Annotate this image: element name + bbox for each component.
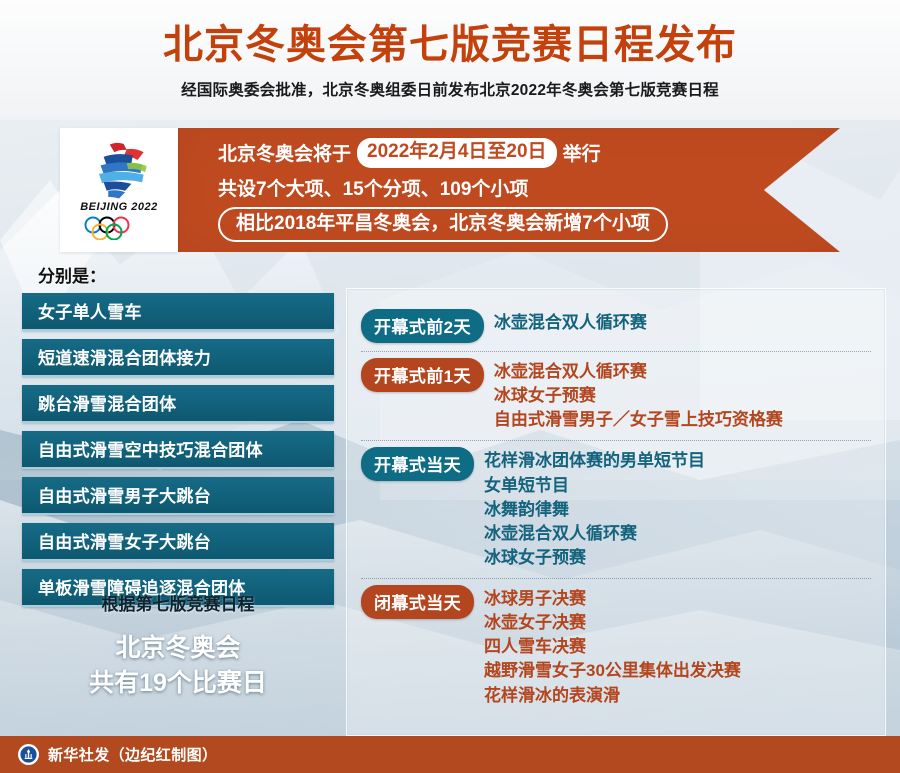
list-item: 冰壶女子决赛 — [484, 611, 741, 635]
schedule-items: 冰壶混合双人循环赛 冰球女子预赛 自由式滑雪男子／女子雪上技巧资格赛 — [494, 358, 783, 432]
list-item: 跳台滑雪混合团体 — [22, 385, 334, 423]
list-item: 四人雪车决赛 — [484, 635, 741, 659]
schedule-items: 花样滑冰团体赛的男单短节目 女单短节目 冰舞韵律舞 冰壶混合双人循环赛 冰球女子… — [484, 447, 705, 570]
page-title: 北京冬奥会第七版竞赛日程发布 — [0, 22, 900, 68]
list-item: 花样滑冰的表演滑 — [484, 684, 741, 708]
status-badge: 开幕式前2天 — [361, 309, 484, 343]
schedule-panel: 开幕式前2天 冰壶混合双人循环赛 开幕式前1天 冰壶混合双人循环赛 冰球女子预赛… — [346, 288, 886, 736]
list-item: 女单短节目 — [484, 474, 705, 498]
list-item: 冰球女子预赛 — [494, 384, 783, 408]
beijing-2022-wordmark: BEIJING 2022 — [80, 201, 158, 213]
banner-line-3: 相比2018年平昌冬奥会，北京冬奥会新增7个小项 — [218, 207, 830, 243]
banner-line1-suffix: 举行 — [563, 139, 601, 166]
list-item: 越野滑雪女子30公里集体出发决赛 — [484, 659, 741, 683]
banner-text-block: 北京冬奥会将于 2022年2月4日至20日 举行 共设7个大项、15个分项、10… — [210, 128, 830, 252]
page-subtitle: 经国际奥委会批准，北京冬奥组委日前发布北京2022年冬奥会第七版竞赛日程 — [0, 78, 900, 100]
banner-line-2: 共设7个大项、15个分项、109个小项 — [218, 174, 830, 201]
list-item: 自由式滑雪空中技巧混合团体 — [22, 431, 334, 469]
conclusion-subtitle: 根据第七版竞赛日程 — [22, 590, 334, 615]
table-row: 开幕式前2天 冰壶混合双人循环赛 — [361, 303, 871, 351]
banner-newevents-pill: 相比2018年平昌冬奥会，北京冬奥会新增7个小项 — [218, 207, 668, 243]
status-badge: 开幕式当天 — [361, 447, 474, 481]
list-item: 花样滑冰团体赛的男单短节目 — [484, 449, 705, 473]
banner-line-1: 北京冬奥会将于 2022年2月4日至20日 举行 — [218, 138, 830, 168]
table-row: 开幕式当天 花样滑冰团体赛的男单短节目 女单短节目 冰舞韵律舞 冰壶混合双人循环… — [361, 440, 871, 578]
banner-line1-prefix: 北京冬奥会将于 — [218, 139, 351, 166]
banner-date-pill: 2022年2月4日至20日 — [357, 138, 557, 168]
list-item: 自由式滑雪男子／女子雪上技巧资格赛 — [494, 408, 783, 432]
footer-bar: 新华社发（边纪红制图） — [0, 736, 900, 773]
page-header: 北京冬奥会第七版竞赛日程发布 经国际奥委会批准，北京冬奥组委日前发布北京2022… — [0, 0, 900, 100]
list-item: 冰壶混合双人循环赛 — [484, 522, 705, 546]
list-item: 冰壶混合双人循环赛 — [494, 360, 783, 384]
xinhua-logo-icon — [18, 744, 39, 765]
list-item: 冰舞韵律舞 — [484, 498, 705, 522]
olympic-rings-icon — [81, 216, 157, 240]
beijing-2022-logo: BEIJING 2022 — [60, 128, 178, 252]
footer-credit: 新华社发（边纪红制图） — [48, 744, 217, 765]
new-events-list: 分别是： 女子单人雪车 短道速滑混合团体接力 跳台滑雪混合团体 自由式滑雪空中技… — [22, 262, 334, 615]
list-item: 女子单人雪车 — [22, 293, 334, 331]
new-events-heading: 分别是： — [38, 262, 334, 287]
schedule-items: 冰壶混合双人循环赛 — [494, 309, 647, 335]
list-item: 冰壶混合双人循环赛 — [494, 311, 647, 335]
conclusion-block: 根据第七版竞赛日程 北京冬奥会 共有19个比赛日 — [22, 590, 334, 700]
status-badge: 闭幕式当天 — [361, 585, 474, 619]
schedule-items: 冰球男子决赛 冰壶女子决赛 四人雪车决赛 越野滑雪女子30公里集体出发决赛 花样… — [484, 585, 741, 708]
status-badge: 开幕式前1天 — [361, 358, 484, 392]
beijing-2022-emblem-icon — [80, 140, 158, 200]
list-item: 冰球男子决赛 — [484, 587, 741, 611]
list-item: 自由式滑雪女子大跳台 — [22, 523, 334, 561]
list-item: 自由式滑雪男子大跳台 — [22, 477, 334, 515]
table-row: 闭幕式当天 冰球男子决赛 冰壶女子决赛 四人雪车决赛 越野滑雪女子30公里集体出… — [361, 578, 871, 716]
list-item: 冰球女子预赛 — [484, 546, 705, 570]
table-row: 开幕式前1天 冰壶混合双人循环赛 冰球女子预赛 自由式滑雪男子／女子雪上技巧资格… — [361, 351, 871, 440]
conclusion-line-2: 共有19个比赛日 — [22, 666, 334, 701]
xinhua-emblem-icon — [20, 746, 37, 763]
list-item: 短道速滑混合团体接力 — [22, 339, 334, 377]
summary-banner: BEIJING 2022 北京冬奥会将于 2022年2月4日至20日 举行 共设… — [60, 128, 840, 252]
conclusion-line-1: 北京冬奥会 — [22, 631, 334, 666]
